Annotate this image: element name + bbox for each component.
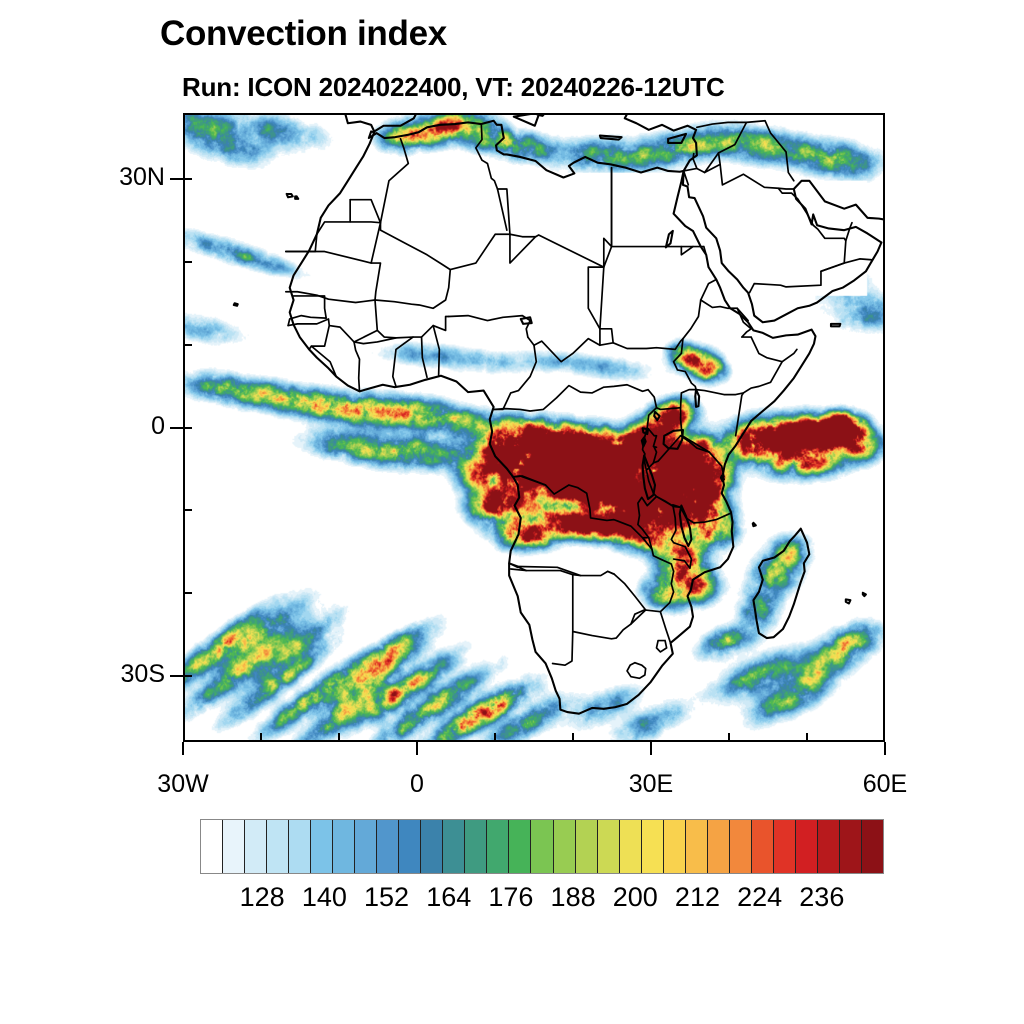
chart-root: Convection index Run: ICON 2024022400, V…	[0, 0, 1024, 1024]
colorbar-cell	[752, 820, 774, 873]
colorbar-cell	[311, 820, 333, 873]
colorbar-cell	[509, 820, 531, 873]
colorbar-cell	[223, 820, 245, 873]
colorbar-cell	[686, 820, 708, 873]
country-border	[375, 270, 450, 309]
x-tick	[884, 742, 886, 755]
x-minor-tick	[572, 733, 574, 742]
country-border	[600, 329, 613, 343]
colorbar-cell	[355, 820, 377, 873]
x-axis-label: 30W	[113, 770, 253, 799]
colorbar-cell	[443, 820, 465, 873]
colorbar-cell	[201, 820, 223, 873]
y-minor-tick	[183, 509, 192, 511]
country-border	[696, 349, 797, 394]
x-axis-label: 60E	[815, 770, 955, 799]
coastline	[753, 529, 809, 638]
country-border	[627, 663, 646, 679]
country-border	[450, 234, 510, 269]
country-border	[821, 259, 871, 271]
country-border	[573, 610, 646, 639]
country-border	[380, 223, 450, 270]
chart-subtitle: Run: ICON 2024022400, VT: 20240226-12UTC	[182, 72, 725, 103]
coastline	[369, 121, 882, 323]
y-tick	[170, 178, 183, 180]
colorbar-cell	[333, 820, 355, 873]
country-border	[510, 234, 536, 236]
country-border	[354, 338, 396, 391]
country-border	[534, 267, 604, 362]
map-boundaries-overlay	[185, 115, 883, 740]
y-minor-tick	[183, 592, 192, 594]
country-border	[498, 189, 507, 230]
coastline	[664, 430, 683, 449]
coastline	[295, 196, 298, 198]
country-border	[681, 408, 683, 436]
colorbar-cell	[642, 820, 664, 873]
colorbar-cell	[487, 820, 509, 873]
x-minor-tick	[260, 733, 262, 742]
country-border	[656, 390, 696, 410]
colorbar-cell	[840, 820, 862, 873]
colorbar-cell	[245, 820, 267, 873]
country-border	[380, 139, 408, 223]
coastline	[863, 593, 866, 596]
country-border	[656, 497, 673, 507]
y-minor-tick	[183, 344, 192, 346]
y-tick	[170, 427, 183, 429]
colorbar-cell	[531, 820, 553, 873]
y-axis-label: 30N	[45, 163, 165, 192]
y-tick-inner	[183, 675, 192, 677]
x-axis-label: 0	[347, 770, 487, 799]
country-border	[350, 200, 380, 223]
colorbar-cell	[818, 820, 840, 873]
country-border	[684, 171, 689, 185]
coastline	[287, 194, 293, 197]
colorbar-cell	[664, 820, 686, 873]
country-border	[746, 121, 793, 181]
coastline-layer	[234, 115, 883, 714]
y-axis-label: 30S	[45, 660, 165, 689]
colorbar-cell	[399, 820, 421, 873]
y-tick-inner	[183, 178, 192, 180]
country-border	[422, 337, 427, 377]
colorbar-tick-label: 236	[777, 882, 867, 913]
y-minor-tick	[183, 261, 192, 263]
country-border-layer	[286, 115, 872, 678]
x-minor-tick	[338, 733, 340, 742]
country-border	[600, 267, 604, 329]
colorbar-cell	[620, 820, 642, 873]
coastline	[600, 136, 622, 140]
colorbar	[200, 819, 884, 874]
country-border	[751, 337, 782, 362]
coastline	[794, 181, 883, 243]
country-border	[697, 122, 747, 127]
coastline	[695, 390, 699, 407]
country-border	[681, 436, 722, 466]
colorbar-cell	[377, 820, 399, 873]
country-border	[646, 610, 671, 643]
country-border	[656, 641, 666, 652]
country-border	[449, 316, 530, 337]
coastline	[753, 523, 756, 526]
x-minor-tick	[494, 733, 496, 742]
country-border	[684, 122, 747, 172]
country-border	[720, 164, 794, 189]
coastline	[846, 599, 851, 603]
country-border	[614, 574, 646, 610]
country-border	[674, 559, 690, 568]
coastline	[290, 132, 816, 713]
coastline	[654, 412, 659, 420]
colorbar-cell	[598, 820, 620, 873]
colorbar-labels: 128140152164176188200212224236	[200, 882, 884, 916]
country-border	[681, 247, 693, 255]
country-border	[494, 337, 537, 409]
country-border	[553, 575, 573, 666]
country-border	[393, 337, 413, 386]
colorbar-cell	[465, 820, 487, 873]
y-tick	[170, 675, 183, 677]
map-plot-area	[183, 113, 885, 742]
country-border	[683, 279, 716, 338]
x-tick	[416, 742, 418, 755]
country-border	[604, 247, 612, 268]
colorbar-cell	[796, 820, 818, 873]
colorbar-cell	[576, 820, 598, 873]
coastline	[680, 506, 692, 546]
colorbar-cell	[730, 820, 752, 873]
y-tick-inner	[183, 427, 192, 429]
country-border	[286, 223, 381, 263]
x-tick	[182, 742, 184, 755]
colorbar-cell	[554, 820, 576, 873]
country-border	[510, 234, 612, 267]
colorbar-cell	[421, 820, 443, 873]
country-border	[494, 385, 657, 411]
coastline	[666, 231, 673, 247]
page-title: Convection index	[160, 14, 447, 54]
country-border	[612, 168, 704, 247]
country-border	[513, 408, 656, 538]
coastline	[831, 324, 840, 326]
x-tick	[650, 742, 652, 755]
x-axis-label: 30E	[581, 770, 721, 799]
country-border	[736, 393, 744, 436]
colorbar-cell	[862, 820, 883, 873]
country-border	[681, 436, 710, 452]
colorbar-cell	[289, 820, 311, 873]
country-border	[433, 326, 439, 375]
x-minor-tick	[728, 733, 730, 742]
colorbar-cell	[267, 820, 289, 873]
colorbar-cell	[774, 820, 796, 873]
coastline	[514, 115, 539, 126]
coastline	[668, 134, 686, 143]
coastline	[234, 303, 238, 305]
colorbar-cell	[708, 820, 730, 873]
y-axis-label: 0	[45, 412, 165, 441]
x-minor-tick	[806, 733, 808, 742]
